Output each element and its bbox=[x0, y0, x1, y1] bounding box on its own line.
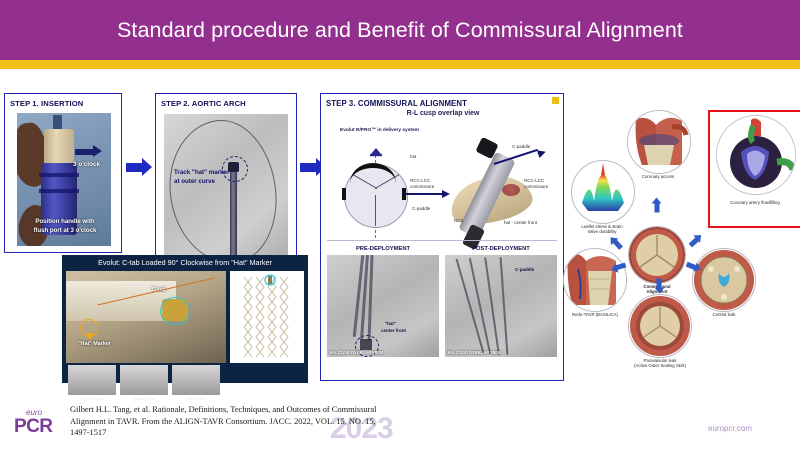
step2-track-label: Track "hat" marker at outer curve bbox=[174, 168, 229, 186]
node-leaflet-line2: Valve durability bbox=[562, 229, 642, 234]
website-link[interactable]: europcr.com bbox=[708, 424, 752, 433]
handle-ring-1 bbox=[39, 173, 79, 177]
step1-clock-label: 3 o'clock bbox=[73, 161, 100, 168]
node-central-leak-label: Central leak bbox=[690, 312, 758, 317]
node-coronary-flow bbox=[716, 115, 796, 195]
commissural-alignment-icon bbox=[629, 227, 685, 283]
step1-caption-line2: flush port at 3 o'clock bbox=[23, 226, 107, 235]
node-coronary-access bbox=[627, 110, 691, 174]
slide-header: Standard procedure and Benefit of Commis… bbox=[0, 0, 800, 60]
thumbnail-label-2: Inner Curve bbox=[172, 396, 220, 401]
arrow-step1-to-step2-icon bbox=[126, 158, 153, 177]
clock-direction-arrow-icon bbox=[75, 145, 103, 157]
post-deployment-block: POST-DEPLOYMENT C-paddle R-L CUSP OVERLA… bbox=[445, 246, 557, 357]
hat-marker-label: "Hat" Marker bbox=[78, 341, 111, 347]
node-leaflet-stress-label: Leaflet stress & strain Valve durability bbox=[562, 224, 642, 235]
redo-tavr-anatomy-icon bbox=[564, 249, 626, 311]
c-paddle-label-right: C-paddle bbox=[512, 144, 530, 149]
thumbnail-outer-curve bbox=[68, 365, 116, 395]
step3-divider bbox=[327, 240, 557, 241]
step3-heading: STEP 3. COMMISSURAL ALIGNMENT bbox=[326, 99, 467, 108]
post-deployment-image: C-paddle R-L CUSP OVERLAP VIEW bbox=[445, 255, 557, 357]
aortic-arch-outline bbox=[164, 115, 283, 269]
crown-marker-icon bbox=[368, 148, 384, 158]
step1-caption: Position handle with flush port at 3 o'c… bbox=[23, 217, 107, 235]
thumbnail-label-0: Outer Curve bbox=[68, 396, 116, 401]
arrow-center-to-coronary-flow-icon bbox=[687, 229, 708, 249]
node-pvl-line2: (Active Outer Sealing Skirt) bbox=[614, 363, 706, 368]
post-deployment-view-label: R-L CUSP OVERLAP VIEW bbox=[448, 350, 501, 355]
step2-fluoroscopy-image: Track "hat" marker at outer curve bbox=[164, 114, 288, 269]
europcr-logo[interactable]: euro PCR bbox=[14, 408, 62, 440]
logo-pcr-text: PCR bbox=[14, 416, 52, 438]
evolut-ctab-panel: Evolut: C-tab Loaded 90° Clockwise from … bbox=[62, 255, 308, 383]
evolut-delivery-caption: Evolut R/PRO™ in delivery system bbox=[340, 128, 419, 133]
pre-deployment-overlay-line2: center front bbox=[381, 328, 406, 333]
node-coronary-flow-label: Coronary artery flow/filling bbox=[712, 200, 798, 205]
central-leak-icon bbox=[693, 249, 755, 311]
coronary-flow-cfd-icon bbox=[717, 116, 795, 194]
pre-deployment-image: "hat" center front R-L CUSP OVERLAP VIEW bbox=[327, 255, 439, 357]
node-commissural-alignment-center bbox=[628, 226, 686, 284]
step1-caption-line1: Position handle with bbox=[23, 217, 107, 226]
pre-deployment-overlay-line1: "hat" bbox=[385, 321, 396, 326]
calcification-lesion bbox=[502, 184, 520, 196]
node-coronary-access-label: Coronary access bbox=[622, 174, 694, 179]
step2-track-line2: at outer curve bbox=[174, 177, 229, 186]
coronary-access-anatomy-icon bbox=[628, 111, 690, 173]
node-redo-tavr-label: Redo-TAVR (BASILICA) bbox=[556, 312, 634, 317]
step1-panel: STEP 1. INSERTION 3 o'clock Position han… bbox=[4, 93, 122, 253]
leaflet-stress-heatmap-icon bbox=[572, 161, 634, 223]
citation-line1: Gilbert H.L. Tang, et al. Rationale, Def… bbox=[70, 404, 500, 416]
thumbnail-inner-curve bbox=[172, 365, 220, 395]
hat-center-front-label: hat - center front bbox=[504, 220, 537, 225]
pre-deployment-block: PRE-DEPLOYMENT "hat" center front R-L CU… bbox=[327, 246, 439, 357]
citation-text: Gilbert H.L. Tang, et al. Rationale, Def… bbox=[70, 404, 500, 439]
thumbnail-center-front bbox=[120, 365, 168, 395]
evolut-panel-title: Evolut: C-tab Loaded 90° Clockwise from … bbox=[62, 258, 308, 267]
rcc-lcc-arrow-3d-icon bbox=[494, 160, 552, 169]
commissure-label-line1: RCC-LCC bbox=[410, 178, 430, 183]
node-pvl-label: Paravalvular leak (Active Outer Sealing … bbox=[614, 358, 706, 369]
step3-schematic-area: Evolut R/PRO™ in delivery system hat RCC… bbox=[326, 122, 558, 234]
step2-heading: STEP 2. AORTIC ARCH bbox=[161, 99, 246, 108]
post-deployment-overlay-line1: C-paddle bbox=[515, 267, 534, 272]
step2-panel: STEP 2. AORTIC ARCH Track "hat" marker a… bbox=[155, 93, 297, 275]
arrow-center-to-pvl-icon bbox=[654, 279, 665, 297]
evolut-stent-illustration bbox=[230, 271, 304, 363]
commissure-label-line2: commissure bbox=[410, 184, 434, 189]
commissure-3d-line1: RCC-LCC bbox=[524, 178, 544, 183]
citation-line3: 1497-1517 bbox=[70, 427, 500, 439]
header-accent-band bbox=[0, 60, 800, 69]
stent-frame-icon bbox=[230, 271, 304, 363]
citation-line2: Alignment in TAVR. From the ALIGN-TAVR C… bbox=[70, 416, 500, 428]
hat-label: hat bbox=[410, 154, 416, 159]
thumbnail-label-1: Center Front bbox=[120, 396, 168, 401]
step1-photo: 3 o'clock Position handle with flush por… bbox=[17, 113, 111, 246]
pre-deployment-view-label: R-L CUSP OVERLAP VIEW bbox=[330, 350, 383, 355]
rcc-lcc-commissure-arrow-icon bbox=[406, 190, 452, 199]
node-coronary-flow-highlight-box: Coronary artery flow/filling bbox=[708, 110, 800, 228]
arrow-center-to-coronary-access-icon bbox=[652, 195, 663, 213]
page-title: Standard procedure and Benefit of Commis… bbox=[0, 0, 800, 60]
pre-deployment-title: PRE-DEPLOYMENT bbox=[327, 246, 439, 252]
step3-subtitle: R-L cusp overlap view bbox=[321, 110, 565, 117]
handle-gold-section bbox=[44, 129, 74, 167]
node-central-leak bbox=[692, 248, 756, 312]
step1-heading: STEP 1. INSERTION bbox=[10, 99, 83, 108]
evolut-loading-photo: C-tab "Hat" Marker bbox=[66, 271, 226, 363]
c-paddle-label-left: C-paddle bbox=[412, 206, 430, 211]
ctab-highlight-circle bbox=[160, 297, 190, 325]
node-leaflet-stress bbox=[571, 160, 635, 224]
paravalvular-leak-icon bbox=[629, 295, 691, 357]
post-deployment-title: POST-DEPLOYMENT bbox=[445, 246, 557, 252]
sun-marker-icon bbox=[552, 97, 559, 104]
ncc-label: NCC bbox=[454, 218, 464, 223]
node-paravalvular-leak bbox=[628, 294, 692, 358]
node-redo-tavr bbox=[563, 248, 627, 312]
step3-panel: STEP 3. COMMISSURAL ALIGNMENT R-L cusp o… bbox=[320, 93, 564, 381]
commissure-3d-line2: commissure bbox=[524, 184, 548, 189]
step2-track-line1: Track "hat" marker bbox=[174, 168, 229, 177]
c-paddle-marker-left bbox=[342, 188, 346, 200]
handle-ring-2 bbox=[39, 189, 79, 193]
